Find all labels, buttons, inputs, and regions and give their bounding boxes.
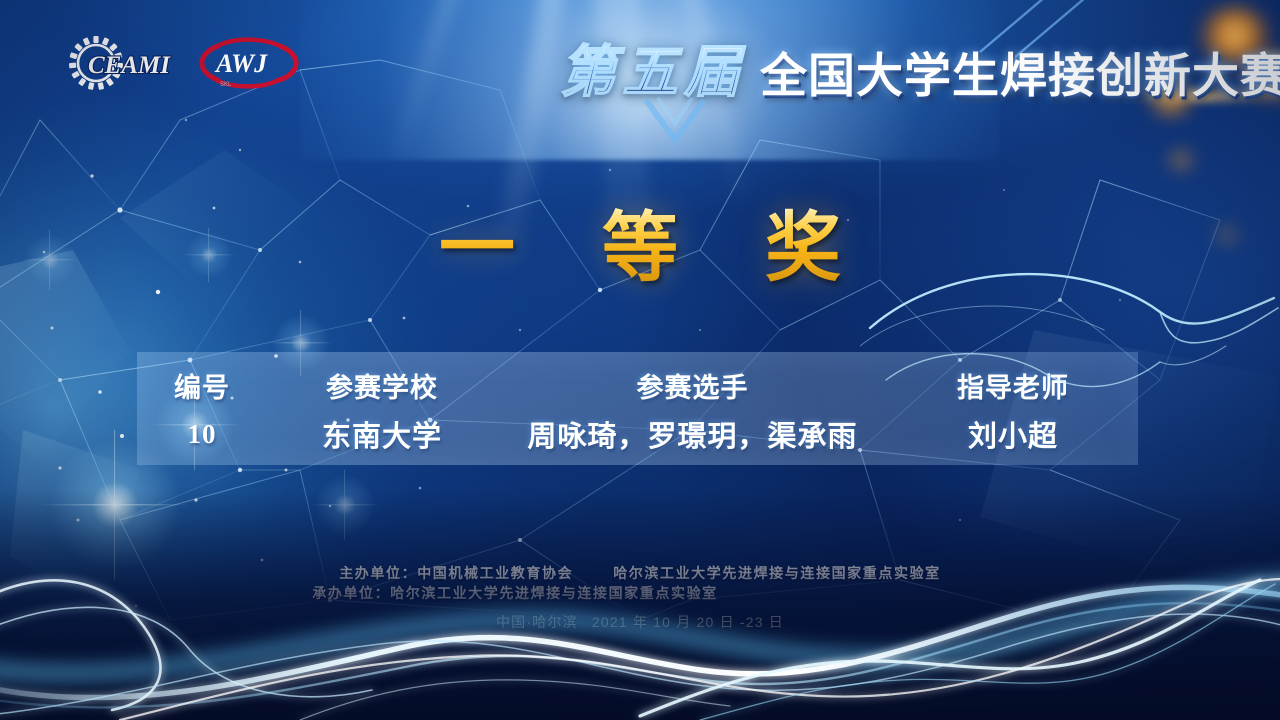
bottom-wave-ribbons — [0, 540, 1280, 720]
award-slide: CEAMI AWJ SKL 第五届 全国大学生焊接创新大赛 — [0, 0, 1280, 720]
